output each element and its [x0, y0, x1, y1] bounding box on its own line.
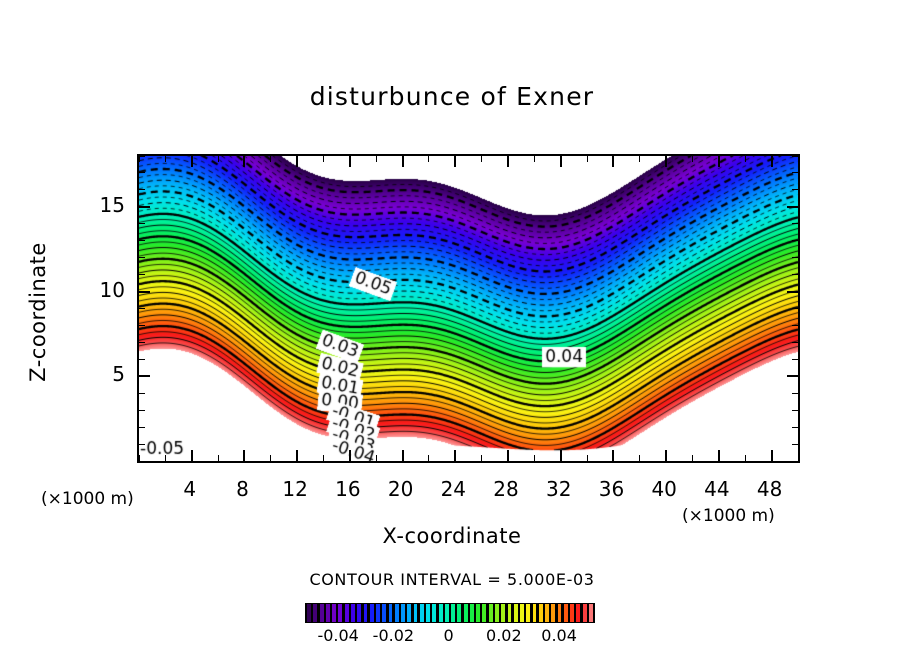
- axis-tick: [218, 455, 219, 461]
- axis-tick: [139, 359, 145, 360]
- axis-tick: [792, 427, 798, 428]
- y-tick-label: 10: [75, 278, 125, 302]
- axis-tick: [376, 156, 377, 162]
- axis-tick: [139, 257, 145, 258]
- axis-tick: [792, 257, 798, 258]
- axis-tick: [792, 444, 798, 445]
- axis-tick: [792, 156, 798, 157]
- axis-tick: [792, 240, 798, 241]
- colorbar-cell: [514, 604, 518, 622]
- x-tick-label: 36: [581, 477, 641, 501]
- colorbar-cell: [351, 604, 355, 622]
- colorbar-cell: [539, 604, 543, 622]
- colorbar-cell: [389, 604, 393, 622]
- colorbar-cell: [520, 604, 524, 622]
- axis-tick: [349, 450, 351, 461]
- axis-tick: [612, 156, 614, 167]
- y-tick-label: 15: [75, 193, 125, 217]
- axis-tick: [507, 450, 509, 461]
- colorbar-cell: [464, 604, 468, 622]
- colorbar-cell: [558, 604, 562, 622]
- x-tick-label: 4: [160, 477, 220, 501]
- axis-tick: [787, 375, 798, 377]
- x-tick-label: 28: [476, 477, 536, 501]
- axis-tick: [191, 450, 193, 461]
- axis-tick: [507, 156, 509, 167]
- axis-tick: [139, 206, 150, 208]
- axis-tick: [139, 461, 145, 462]
- axis-tick: [792, 172, 798, 173]
- axis-tick: [139, 444, 145, 445]
- colorbar-cell: [338, 604, 342, 622]
- colorbar-cell: [495, 604, 499, 622]
- axis-tick: [139, 223, 145, 224]
- axis-tick: [296, 450, 298, 461]
- axis-tick: [639, 156, 640, 162]
- axis-tick: [454, 450, 456, 461]
- axis-tick: [428, 156, 429, 162]
- colorbar-cell: [551, 604, 555, 622]
- axis-tick: [139, 375, 150, 377]
- axis-tick: [665, 450, 667, 461]
- colorbar-cell: [320, 604, 324, 622]
- x-tick-label: 24: [423, 477, 483, 501]
- axis-tick: [218, 156, 219, 162]
- axis-tick: [745, 156, 746, 162]
- y-tick-label: 5: [75, 362, 125, 386]
- axis-tick: [792, 461, 798, 462]
- page-title: disturbunce of Exner: [0, 82, 904, 111]
- colorbar-tick-label: 0: [419, 626, 479, 645]
- axis-tick: [139, 325, 145, 326]
- axis-tick: [323, 455, 324, 461]
- colorbar-cell: [564, 604, 568, 622]
- axis-tick: [139, 189, 145, 190]
- colorbar-cell: [482, 604, 486, 622]
- x-tick-label: 32: [529, 477, 589, 501]
- axis-tick: [270, 455, 271, 461]
- x-axis-title: X-coordinate: [0, 524, 904, 548]
- colorbar-cell: [570, 604, 574, 622]
- colorbar-cell: [583, 604, 587, 622]
- x-unit-right: (×1000 m): [682, 506, 775, 526]
- axis-tick: [270, 156, 271, 162]
- axis-tick: [376, 455, 377, 461]
- axis-tick: [139, 156, 140, 162]
- contour-canvas: [139, 156, 798, 461]
- axis-tick: [560, 156, 562, 167]
- axis-tick: [639, 455, 640, 461]
- colorbar-tick-label: -0.02: [363, 626, 423, 645]
- axis-tick: [792, 325, 798, 326]
- axis-tick: [534, 455, 535, 461]
- axis-tick: [692, 156, 693, 162]
- axis-tick: [296, 156, 298, 167]
- axis-tick: [139, 156, 145, 157]
- axis-tick: [792, 223, 798, 224]
- axis-tick: [481, 455, 482, 461]
- colorbar-cell: [432, 604, 436, 622]
- colorbar-cell: [364, 604, 368, 622]
- axis-tick: [165, 156, 166, 162]
- colorbar-tick-labels: -0.04-0.0200.020.04: [305, 626, 595, 648]
- contour-plot-area: [137, 154, 800, 463]
- colorbar-cell: [445, 604, 449, 622]
- colorbar-cell: [420, 604, 424, 622]
- axis-tick: [771, 156, 773, 167]
- x-tick-label: 8: [212, 477, 272, 501]
- contour-interval-text: CONTOUR INTERVAL = 5.000E-03: [0, 570, 904, 589]
- colorbar-cell: [407, 604, 411, 622]
- x-tick-label: 16: [318, 477, 378, 501]
- axis-tick: [665, 156, 667, 167]
- colorbar-cell: [414, 604, 418, 622]
- axis-tick: [191, 156, 193, 167]
- x-tick-label: 48: [740, 477, 800, 501]
- colorbar-tick-label: 0.02: [474, 626, 534, 645]
- axis-tick: [718, 450, 720, 461]
- axis-tick: [402, 156, 404, 167]
- colorbar-cell: [313, 604, 317, 622]
- x-tick-label: 40: [634, 477, 694, 501]
- axis-tick: [771, 450, 773, 461]
- axis-tick: [745, 455, 746, 461]
- axis-tick: [792, 359, 798, 360]
- colorbar-cell: [533, 604, 537, 622]
- axis-tick: [792, 308, 798, 309]
- colorbar-tick-label: -0.04: [308, 626, 368, 645]
- axis-tick: [139, 240, 145, 241]
- colorbar-cell: [439, 604, 443, 622]
- colorbar-cell: [376, 604, 380, 622]
- colorbar-cell: [576, 604, 580, 622]
- axis-tick: [798, 156, 799, 162]
- axis-tick: [139, 342, 145, 343]
- axis-tick: [349, 156, 351, 167]
- axis-tick: [139, 410, 145, 411]
- colorbar-cell: [401, 604, 405, 622]
- axis-tick: [787, 206, 798, 208]
- axis-tick: [792, 410, 798, 411]
- axis-tick: [612, 450, 614, 461]
- axis-tick: [402, 450, 404, 461]
- colorbar-cell: [370, 604, 374, 622]
- colorbar-cell: [476, 604, 480, 622]
- x-tick-label: 44: [687, 477, 747, 501]
- colorbar-cell: [489, 604, 493, 622]
- axis-tick: [787, 291, 798, 293]
- axis-tick: [792, 342, 798, 343]
- colorbar-cell: [332, 604, 336, 622]
- axis-tick: [165, 455, 166, 461]
- colorbar-cell: [526, 604, 530, 622]
- colorbar: [305, 603, 595, 623]
- axis-tick: [792, 274, 798, 275]
- colorbar-cell: [589, 604, 593, 622]
- axis-tick: [692, 455, 693, 461]
- y-axis-title: Z-coordinate: [26, 212, 50, 412]
- colorbar-cell: [451, 604, 455, 622]
- axis-tick: [139, 393, 145, 394]
- colorbar-cell: [508, 604, 512, 622]
- colorbar-tick-label: 0.04: [529, 626, 589, 645]
- colorbar-cell: [326, 604, 330, 622]
- x-tick-label: 12: [265, 477, 325, 501]
- axis-tick: [323, 156, 324, 162]
- x-unit-left: (×1000 m): [41, 489, 134, 509]
- x-tick-label: 20: [371, 477, 431, 501]
- axis-tick: [718, 156, 720, 167]
- colorbar-cell: [501, 604, 505, 622]
- axis-tick: [139, 291, 150, 293]
- axis-tick: [243, 156, 245, 167]
- colorbar-cell: [382, 604, 386, 622]
- colorbar-cell: [457, 604, 461, 622]
- axis-tick: [481, 156, 482, 162]
- colorbar-cell: [395, 604, 399, 622]
- axis-tick: [139, 172, 145, 173]
- axis-tick: [139, 308, 145, 309]
- colorbar-cell: [307, 604, 311, 622]
- axis-tick: [587, 455, 588, 461]
- axis-tick: [139, 427, 145, 428]
- axis-tick: [792, 393, 798, 394]
- axis-tick: [792, 189, 798, 190]
- axis-tick: [587, 156, 588, 162]
- colorbar-cell: [357, 604, 361, 622]
- axis-tick: [560, 450, 562, 461]
- axis-tick: [139, 274, 145, 275]
- colorbar-cell: [426, 604, 430, 622]
- axis-tick: [243, 450, 245, 461]
- colorbar-cell: [545, 604, 549, 622]
- colorbar-cell: [470, 604, 474, 622]
- axis-tick: [454, 156, 456, 167]
- axis-tick: [534, 156, 535, 162]
- colorbar-cell: [345, 604, 349, 622]
- axis-tick: [428, 455, 429, 461]
